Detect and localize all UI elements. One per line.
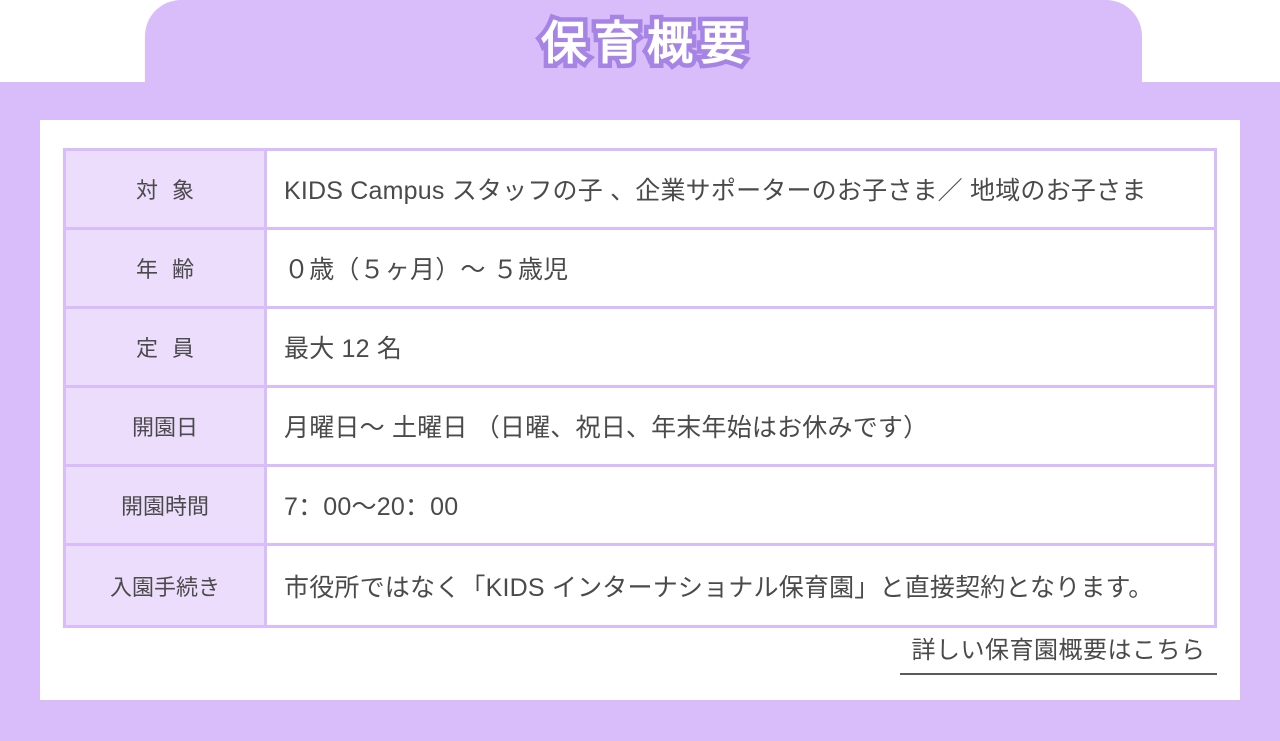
row-value: 月曜日〜 土曜日 （日曜、祝日、年末年始はお休みです） <box>267 388 1214 467</box>
row-value: 7：00〜20：00 <box>267 467 1214 546</box>
content-panel: 対象 KIDS Campus スタッフの子 、企業サポーターのお子さま／ 地域の… <box>40 120 1240 700</box>
row-label: 入園手続き <box>66 546 267 625</box>
table-row: 入園手続き 市役所ではなく「KIDS インターナショナル保育園」と直接契約となり… <box>66 546 1214 625</box>
row-label: 開園時間 <box>66 467 267 546</box>
overview-table: 対象 KIDS Campus スタッフの子 、企業サポーターのお子さま／ 地域の… <box>63 148 1217 628</box>
title-tab: 保育概要 <box>145 0 1142 90</box>
table-row: 定員 最大 12 名 <box>66 309 1214 388</box>
page-root: 保育概要 対象 KIDS Campus スタッフの子 、企業サポーターのお子さま… <box>0 0 1280 741</box>
overview-table-body: 対象 KIDS Campus スタッフの子 、企業サポーターのお子さま／ 地域の… <box>66 151 1214 625</box>
row-value: 最大 12 名 <box>267 309 1214 388</box>
row-label: 定員 <box>66 309 267 388</box>
page-title: 保育概要 <box>534 20 753 70</box>
table-row: 年齢 ０歳（５ヶ月）〜 ５歳児 <box>66 230 1214 309</box>
row-label: 年齢 <box>66 230 267 309</box>
table-row: 開園日 月曜日〜 土曜日 （日曜、祝日、年末年始はお休みです） <box>66 388 1214 467</box>
row-value: KIDS Campus スタッフの子 、企業サポーターのお子さま／ 地域のお子さ… <box>267 151 1214 230</box>
row-value: 市役所ではなく「KIDS インターナショナル保育園」と直接契約となります。 <box>267 546 1214 625</box>
row-label: 開園日 <box>66 388 267 467</box>
detail-link-row: 詳しい保育園概要はこちら <box>900 630 1217 675</box>
detail-link[interactable]: 詳しい保育園概要はこちら <box>900 630 1217 675</box>
table-row: 開園時間 7：00〜20：00 <box>66 467 1214 546</box>
table-row: 対象 KIDS Campus スタッフの子 、企業サポーターのお子さま／ 地域の… <box>66 151 1214 230</box>
row-label: 対象 <box>66 151 267 230</box>
row-value: ０歳（５ヶ月）〜 ５歳児 <box>267 230 1214 309</box>
